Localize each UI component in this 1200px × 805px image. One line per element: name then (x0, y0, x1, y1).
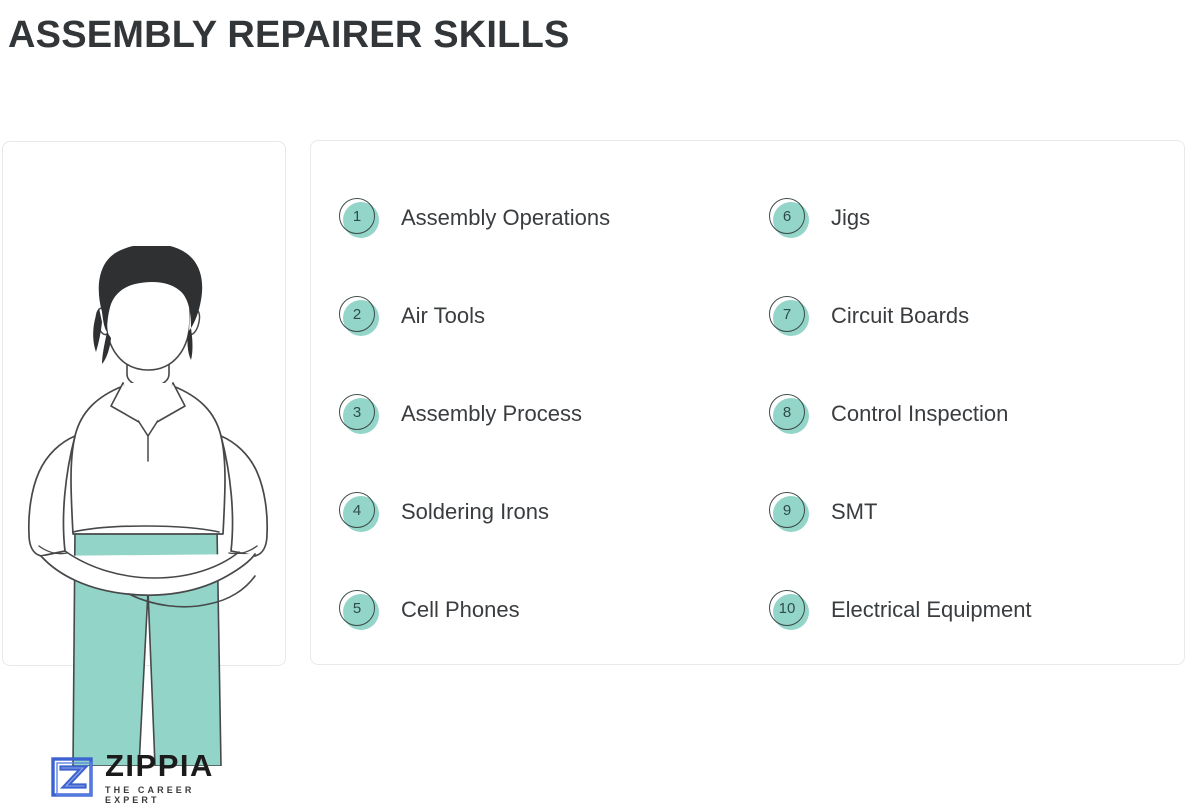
zippia-logo: ZIPPIA THE CAREER EXPERT (49, 752, 244, 802)
skill-number: 9 (769, 492, 805, 528)
skill-number-badge: 8 (769, 394, 809, 434)
skill-item-2[interactable]: 2 Air Tools (311, 267, 741, 365)
skill-label: Electrical Equipment (831, 597, 1032, 623)
skill-number: 5 (339, 590, 375, 626)
skills-grid: 1 Assembly Operations 6 Jigs 2 (311, 141, 1186, 666)
skill-number-badge: 10 (769, 590, 809, 630)
skill-item-5[interactable]: 5 Cell Phones (311, 561, 741, 659)
infographic-page: ASSEMBLY REPAIRER SKILLS (0, 0, 1200, 675)
skills-card: 1 Assembly Operations 6 Jigs 2 (310, 140, 1185, 665)
skill-number-badge: 2 (339, 296, 379, 336)
skill-label: Soldering Irons (401, 499, 549, 525)
page-title: ASSEMBLY REPAIRER SKILLS (8, 14, 570, 57)
skill-label: Assembly Process (401, 401, 582, 427)
skill-item-6[interactable]: 6 Jigs (741, 169, 1171, 267)
skill-item-1[interactable]: 1 Assembly Operations (311, 169, 741, 267)
skill-number: 3 (339, 394, 375, 430)
skill-item-4[interactable]: 4 Soldering Irons (311, 463, 741, 561)
skill-number: 1 (339, 198, 375, 234)
skill-label: Control Inspection (831, 401, 1008, 427)
skill-label: SMT (831, 499, 877, 525)
skill-number: 2 (339, 296, 375, 332)
skill-number: 10 (769, 590, 805, 626)
skill-item-8[interactable]: 8 Control Inspection (741, 365, 1171, 463)
skill-number: 8 (769, 394, 805, 430)
zippia-z-mark-icon (49, 754, 95, 800)
skill-number-badge: 1 (339, 198, 379, 238)
skill-number-badge: 9 (769, 492, 809, 532)
skill-number-badge: 5 (339, 590, 379, 630)
skill-label: Circuit Boards (831, 303, 969, 329)
skill-number-badge: 3 (339, 394, 379, 434)
skill-number-badge: 4 (339, 492, 379, 532)
skill-label: Assembly Operations (401, 205, 610, 231)
skill-item-10[interactable]: 10 Electrical Equipment (741, 561, 1171, 659)
skill-item-7[interactable]: 7 Circuit Boards (741, 267, 1171, 365)
skill-label: Jigs (831, 205, 870, 231)
person-with-crossed-arms-illustration (3, 246, 293, 766)
skill-number-badge: 6 (769, 198, 809, 238)
skill-label: Air Tools (401, 303, 485, 329)
skill-number: 7 (769, 296, 805, 332)
skill-item-3[interactable]: 3 Assembly Process (311, 365, 741, 463)
skill-label: Cell Phones (401, 597, 520, 623)
skill-number: 4 (339, 492, 375, 528)
skill-item-9[interactable]: 9 SMT (741, 463, 1171, 561)
zippia-wordmark: ZIPPIA (105, 750, 244, 781)
skill-number-badge: 7 (769, 296, 809, 336)
zippia-tagline: THE CAREER EXPERT (105, 785, 244, 805)
illustration-card: ZIPPIA THE CAREER EXPERT (2, 141, 286, 666)
skill-number: 6 (769, 198, 805, 234)
